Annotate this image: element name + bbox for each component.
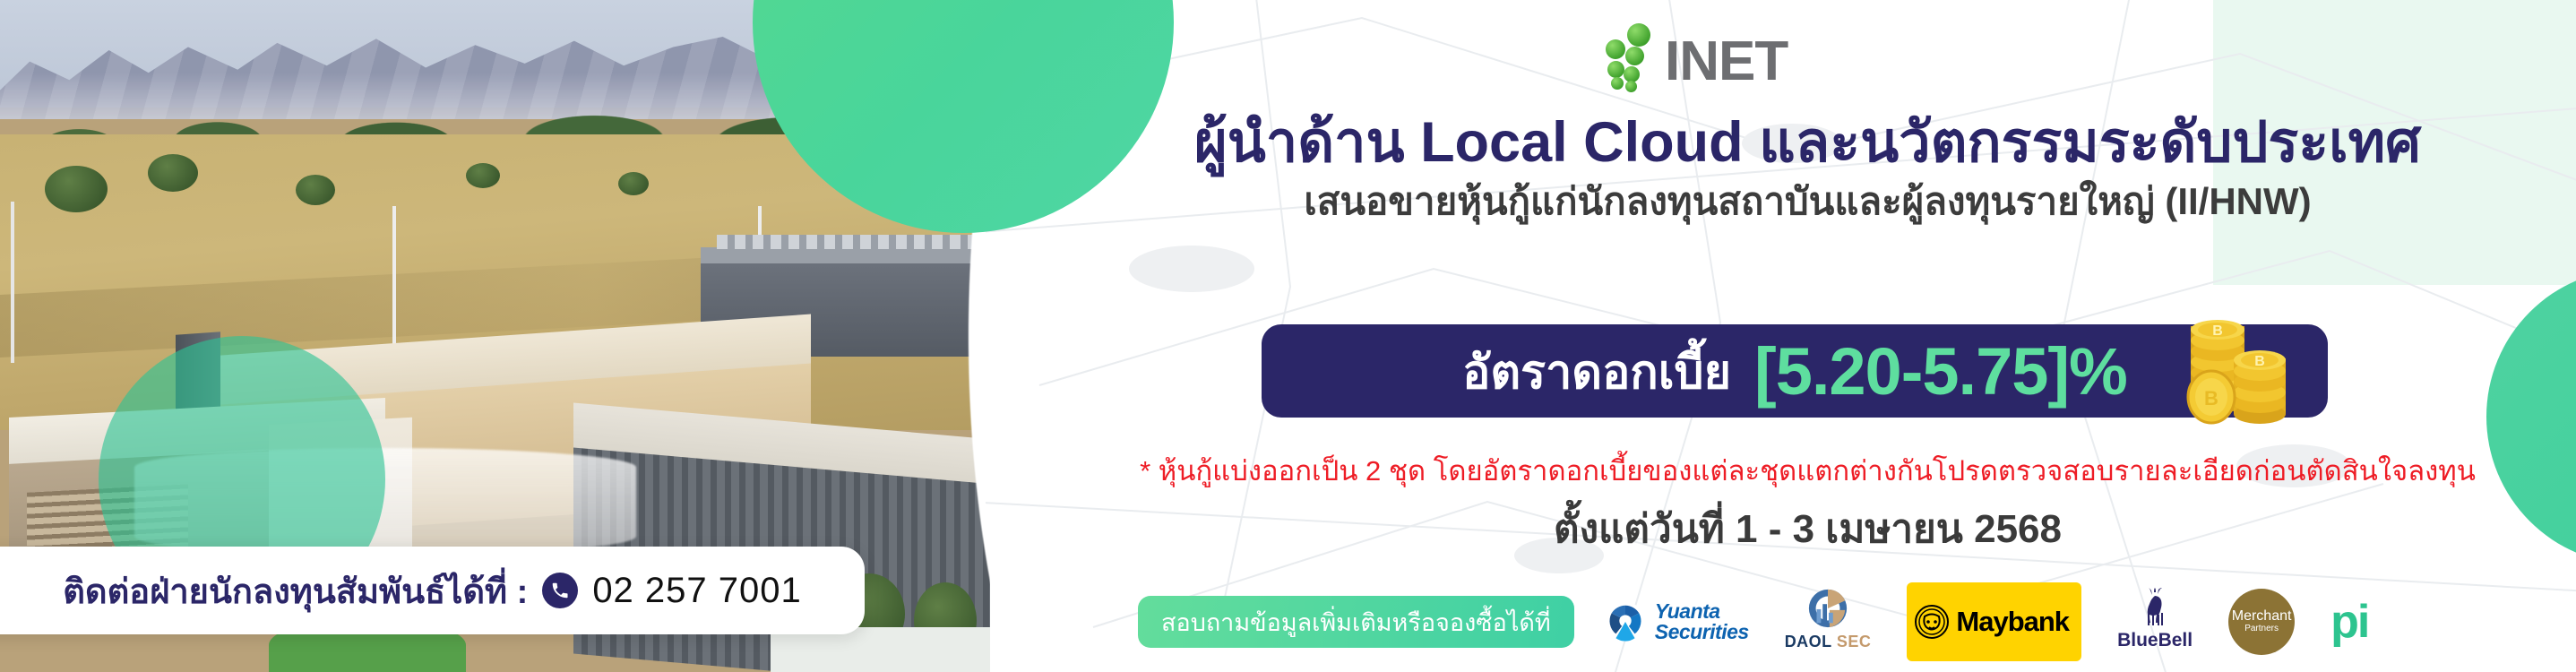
investor-relations-contact: ติดต่อฝ่ายนักลงทุนสัมพันธ์ได้ที่ : 02 25… [0, 547, 865, 634]
offering-dates: ตั้งแต่วันที่ 1 - 3 เมษายน 2568 [1039, 497, 2576, 560]
merchant-line2: Partners [2244, 625, 2279, 634]
partner-logo-pi[interactable]: pi [2330, 587, 2368, 657]
phone-icon [542, 573, 578, 608]
yuanta-star-icon [1605, 601, 1646, 642]
yuanta-line2: Securities [1655, 622, 1749, 642]
interest-rate-value: [5.20-5.75]% [1754, 333, 2127, 409]
maybank-tiger-icon [1914, 604, 1950, 640]
contact-phone-number[interactable]: 02 257 7001 [592, 571, 801, 611]
bluebell-text: BlueBell [2117, 630, 2193, 651]
promo-banner: ติดต่อฝ่ายนักลงทุนสัมพันธ์ได้ที่ : 02 25… [0, 0, 2576, 672]
partner-logo-bluebell[interactable]: BlueBell [2117, 587, 2193, 657]
cta-and-partners-row: สอบถามข้อมูลเพิ่มเติมหรือจองซื้อได้ที่ Y… [1138, 587, 2368, 657]
inet-logo: INET [1604, 20, 1788, 90]
daol-mark-icon [1805, 587, 1851, 630]
partner-logo-daol[interactable]: DAOL SEC [1785, 587, 1872, 657]
interest-rate-box: อัตราดอกเบี้ย [5.20-5.75]% [1262, 324, 2328, 418]
inquiry-cta-button[interactable]: สอบถามข้อมูลเพิ่มเติมหรือจองซื้อได้ที่ [1138, 596, 1574, 648]
svg-text:B: B [2204, 387, 2218, 409]
partner-logos: Yuanta Securities DAOL SEC [1605, 587, 2369, 657]
merchant-line1: Merchant [2232, 609, 2292, 625]
disclaimer-text: * หุ้นกู้แบ่งออกเป็น 2 ชุด โดยอัตราดอกเบ… [1039, 448, 2576, 493]
partner-logo-maybank[interactable]: Maybank [1907, 582, 2081, 661]
svg-text:B: B [2212, 323, 2223, 339]
partner-logo-yuanta[interactable]: Yuanta Securities [1605, 587, 1749, 657]
daol-line1: DAOL [1785, 633, 1832, 650]
content-column: INET ผู้นำด้าน Local Cloud และนวัตกรรมระ… [1039, 0, 2576, 672]
inet-logo-text: INET [1665, 34, 1788, 90]
contact-label: ติดต่อฝ่ายนักลงทุนสัมพันธ์ได้ที่ : [63, 564, 528, 618]
yuanta-line1: Yuanta [1655, 601, 1749, 622]
pi-text: pi [2330, 599, 2368, 645]
svg-text:B: B [2254, 354, 2265, 369]
gold-coins-icon: B B B [2182, 296, 2300, 426]
bluebell-deer-icon [2135, 587, 2175, 628]
page-subtitle: เสนอขายหุ้นกู้แก่นักลงทุนสถาบันและผู้ลงท… [1039, 172, 2576, 231]
interest-rate-label: อัตราดอกเบี้ย [1462, 334, 1731, 409]
maybank-text: Maybank [1956, 606, 2069, 638]
daol-line2: SEC [1837, 633, 1872, 650]
partner-logo-merchant-partners[interactable]: Merchant Partners [2228, 587, 2295, 657]
inet-logo-dots-icon [1604, 22, 1659, 90]
